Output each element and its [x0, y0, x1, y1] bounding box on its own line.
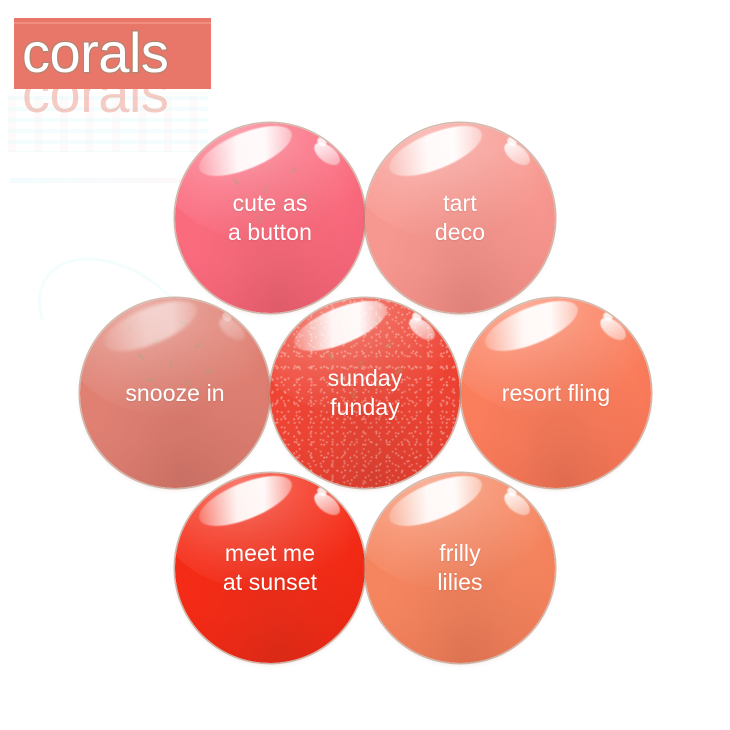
ghost-artifact-line — [10, 178, 206, 183]
swatch-sunday-funday[interactable]: sundayfunday — [270, 298, 460, 488]
swatch-fill — [175, 123, 365, 313]
swatch-cute-as-a-button[interactable]: cute asa button — [175, 123, 365, 313]
swatch-fill — [80, 298, 270, 488]
swatch-snooze-in[interactable]: snooze in — [80, 298, 270, 488]
page-title: corals — [22, 20, 168, 86]
swatch-fill — [461, 298, 651, 488]
swatch-frilly-lilies[interactable]: frillylilies — [365, 473, 555, 663]
swatch-tart-deco[interactable]: tartdeco — [365, 123, 555, 313]
title-banner: corals — [14, 18, 211, 89]
palette-canvas: corals corals cute asa buttontartdecosno… — [0, 0, 730, 730]
swatch-fill — [365, 473, 555, 663]
swatch-meet-me-at-sunset[interactable]: meet meat sunset — [175, 473, 365, 663]
swatch-fill — [175, 473, 365, 663]
swatch-fill — [365, 123, 555, 313]
swatch-resort-fling[interactable]: resort fling — [461, 298, 651, 488]
swatch-fill — [270, 298, 460, 488]
